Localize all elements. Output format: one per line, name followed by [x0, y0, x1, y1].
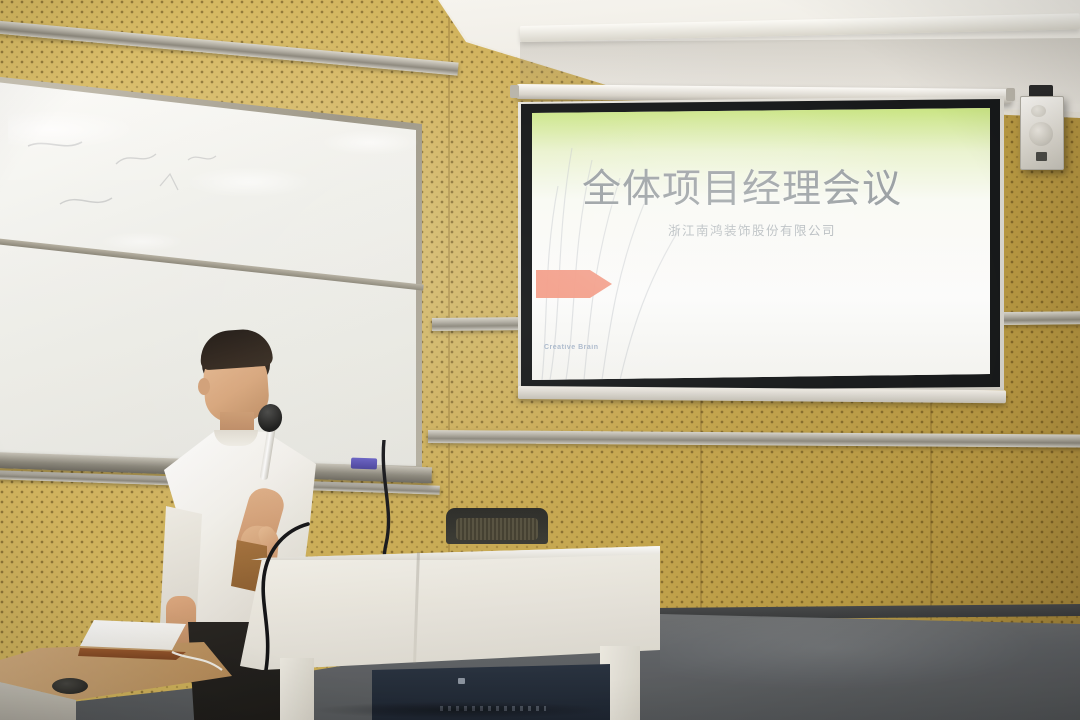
- slide-subtitle: 浙江南鸿装饰股份有限公司: [668, 220, 968, 239]
- presenter-ear: [198, 378, 210, 395]
- chair-mesh-back: [456, 518, 538, 540]
- table-dark-object: [52, 678, 88, 694]
- microphone-cable: [246, 520, 366, 670]
- slide-grass-graphic: [532, 108, 722, 380]
- speaker-tweeter-icon: [1031, 105, 1046, 117]
- roller-end-cap: [1006, 88, 1015, 101]
- speaker-logo: [1036, 152, 1047, 161]
- slide-title: 全体项目经理会议: [582, 170, 982, 209]
- presenter-hair-top: [199, 328, 273, 371]
- projection-screen[interactable]: 全体项目经理会议 浙江南鸿装饰股份有限公司 Creative Brain: [532, 108, 990, 380]
- roller-end-cap: [510, 85, 519, 98]
- photo-scene: 全体项目经理会议 浙江南鸿装饰股份有限公司 Creative Brain: [0, 0, 1080, 720]
- whiteboard-marker-traces: [20, 130, 280, 240]
- wall-panel-seam: [700, 380, 702, 620]
- table-cable: [170, 646, 230, 686]
- presentation-slide: 全体项目经理会议 浙江南鸿装饰股份有限公司 Creative Brain: [532, 108, 990, 380]
- lectern-shadow: [250, 700, 670, 720]
- slide-watermark: Creative Brain: [544, 344, 598, 351]
- panel-indicator-icon: [458, 678, 465, 684]
- floor-sheen: [660, 618, 1080, 718]
- speaker-woofer-icon: [1029, 122, 1053, 146]
